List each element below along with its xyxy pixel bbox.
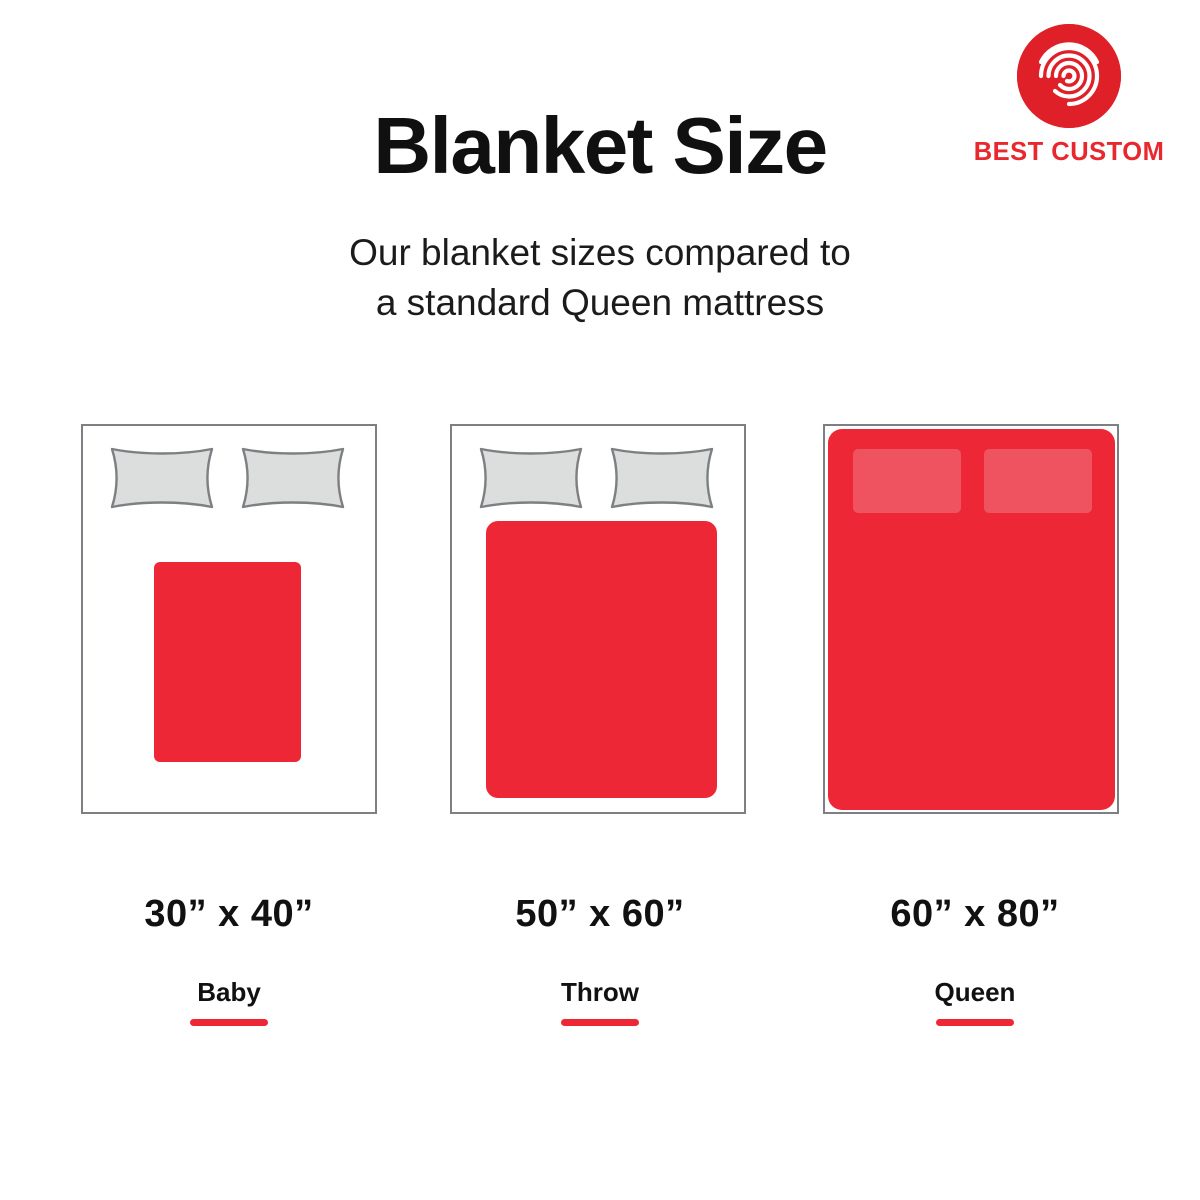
blanket-dimensions: 60” x 80” bbox=[805, 895, 1145, 933]
bed-diagram-queen bbox=[823, 424, 1119, 814]
pillow-icon bbox=[477, 446, 585, 510]
pillow-under-blanket-icon bbox=[853, 449, 961, 513]
pillow-under-blanket-icon bbox=[984, 449, 1092, 513]
blanket-name: Throw bbox=[430, 979, 770, 1005]
accent-underline bbox=[190, 1019, 268, 1026]
blanket-dimensions: 50” x 60” bbox=[430, 895, 770, 933]
subtitle-line-1: Our blanket sizes compared to bbox=[0, 228, 1200, 278]
caption-baby: 30” x 40” Baby bbox=[59, 895, 399, 1026]
blanket-dimensions: 30” x 40” bbox=[59, 895, 399, 933]
blanket-name: Queen bbox=[805, 979, 1145, 1005]
bed-diagram-throw bbox=[450, 424, 746, 814]
blanket-shape-queen bbox=[828, 429, 1115, 810]
pillow-icon bbox=[608, 446, 716, 510]
bed-comparison-row bbox=[0, 424, 1200, 816]
blanket-shape-throw bbox=[486, 521, 717, 798]
caption-queen: 60” x 80” Queen bbox=[805, 895, 1145, 1026]
subtitle-line-2: a standard Queen mattress bbox=[0, 278, 1200, 328]
blanket-shape-baby bbox=[154, 562, 301, 762]
bed-diagram-baby bbox=[81, 424, 377, 814]
caption-throw: 50” x 60” Throw bbox=[430, 895, 770, 1026]
accent-underline bbox=[936, 1019, 1014, 1026]
caption-row: 30” x 40” Baby 50” x 60” Throw 60” x 80”… bbox=[0, 895, 1200, 1055]
blanket-name: Baby bbox=[59, 979, 399, 1005]
pillow-icon bbox=[108, 446, 216, 510]
pillow-icon bbox=[239, 446, 347, 510]
page-title: Blanket Size bbox=[0, 104, 1200, 187]
accent-underline bbox=[561, 1019, 639, 1026]
page-subtitle: Our blanket sizes compared to a standard… bbox=[0, 228, 1200, 328]
